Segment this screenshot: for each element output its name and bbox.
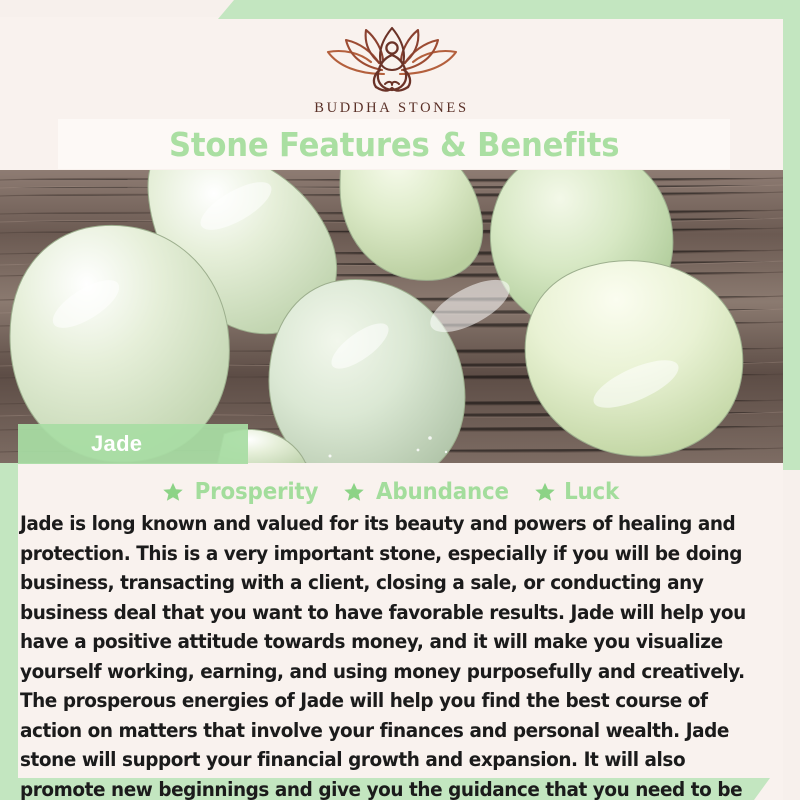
benefit-label: Luck	[564, 479, 619, 505]
star-icon	[534, 481, 556, 503]
stone-photo-graphic	[0, 170, 783, 463]
lotus-meditation-icon	[324, 22, 460, 96]
star-icon	[343, 481, 365, 503]
benefit-item: Abundance	[343, 479, 514, 505]
stone-description: Jade is long known and valued for its be…	[20, 509, 749, 800]
benefit-item: Luck	[534, 479, 621, 505]
benefit-item: Prosperity	[162, 479, 323, 505]
star-icon	[162, 481, 184, 503]
stone-name-text: Jade	[91, 431, 142, 457]
benefit-label: Abundance	[376, 479, 509, 505]
benefit-label: Prosperity	[195, 479, 319, 505]
decorative-band-top	[218, 0, 800, 19]
stone-photo	[0, 170, 783, 463]
decorative-band-right	[783, 0, 800, 470]
stone-name-label: Jade	[18, 424, 248, 464]
brand-logo-block: BUDDHA STONES	[0, 22, 783, 117]
brand-name: BUDDHA STONES	[0, 100, 783, 117]
benefits-row: Prosperity Abundance Luck	[0, 479, 783, 505]
page-title: Stone Features & Benefits	[169, 125, 619, 164]
stone-info-poster: BUDDHA STONES Stone Features & Benefits	[0, 0, 800, 800]
title-banner: Stone Features & Benefits	[58, 119, 730, 169]
